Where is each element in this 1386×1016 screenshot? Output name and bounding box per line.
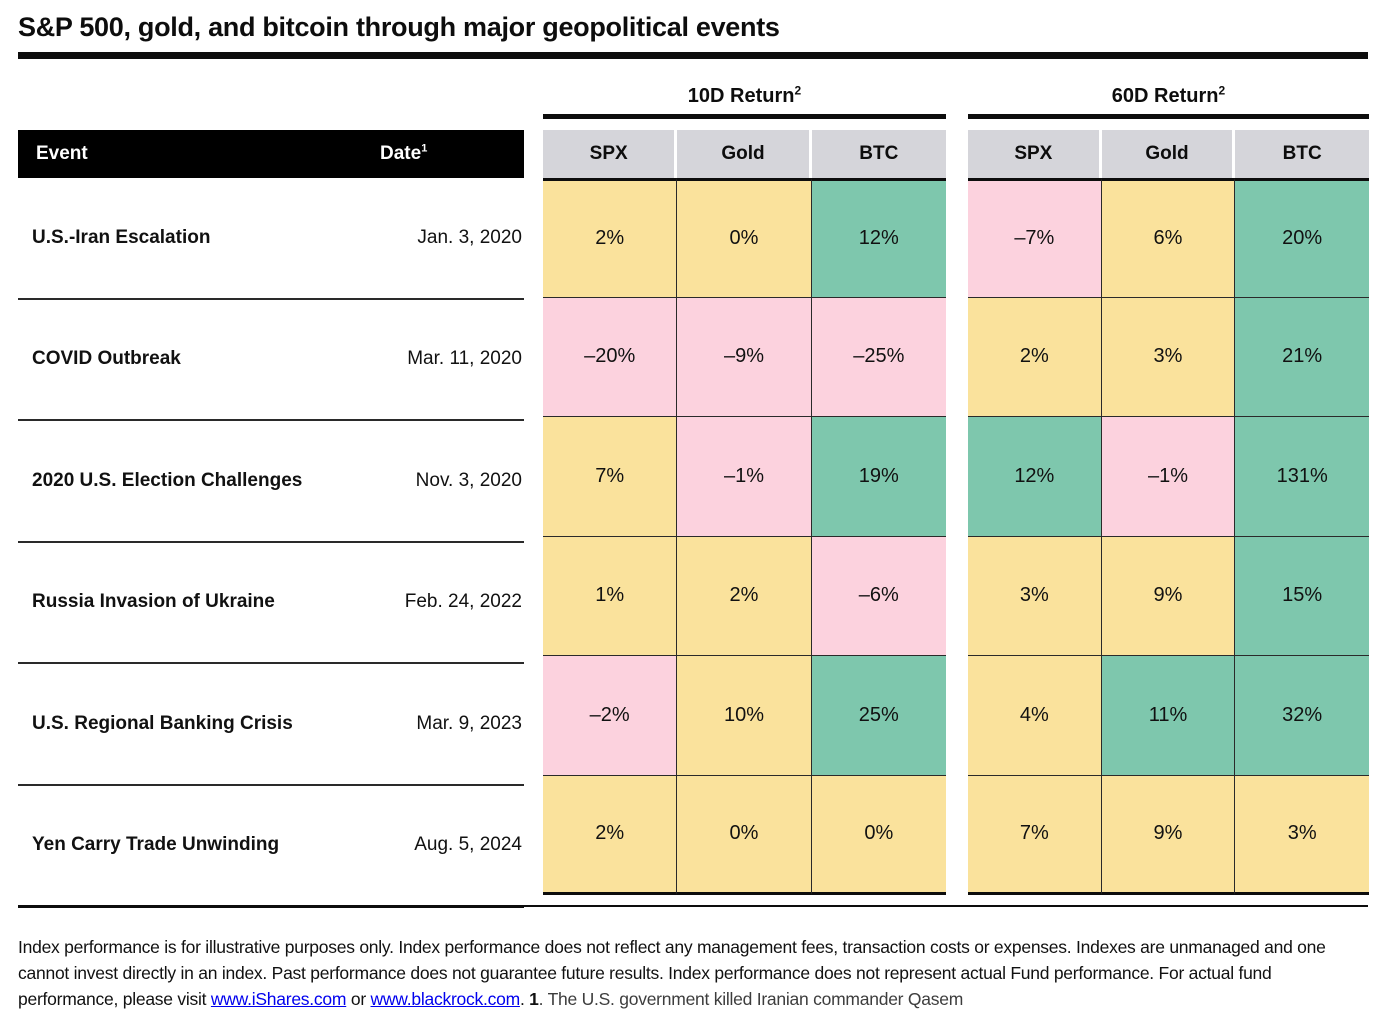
return-cell: –6% [812,537,946,657]
column-header-event: Event [36,143,88,165]
return-cell: 9% [1102,776,1236,896]
event-date: Feb. 24, 2022 [405,591,522,613]
return-cell: 4% [968,656,1102,776]
group-header-60d-label: 60D Return2 [1112,85,1225,107]
return-cell: –25% [812,298,946,418]
footnote-text-tail: . The U.S. government killed Iranian com… [539,989,963,1009]
return-cell: 2% [543,776,677,896]
return-cell: 9% [1102,537,1236,657]
return-cell: 0% [812,776,946,896]
page-title: S&P 500, gold, and bitcoin through major… [18,10,1368,44]
event-name: Yen Carry Trade Unwinding [32,834,279,856]
return-cell: 2% [677,537,811,657]
return-cell: 2% [968,298,1102,418]
event-name: COVID Outbreak [32,348,181,370]
return-cell: 12% [812,178,946,298]
return-cell: –1% [1102,417,1236,537]
title-divider [18,52,1368,59]
return-cell: –2% [543,656,677,776]
footnote-marker-1: 1 [529,989,538,1009]
return-cell: 1% [543,537,677,657]
event-date: Aug. 5, 2024 [414,834,522,856]
table-row: Russia Invasion of UkraineFeb. 24, 2022 [18,543,524,665]
returns-grid-10d: SPXGoldBTC2%0%12%–20%–9%–25%7%–1%19%1%2%… [543,130,946,895]
event-name: 2020 U.S. Election Challenges [32,470,302,492]
return-cell: 7% [968,776,1102,896]
event-name: U.S. Regional Banking Crisis [32,713,293,735]
column-header-spx: SPX [543,130,677,178]
return-cell: –9% [677,298,811,418]
return-cell: 10% [677,656,811,776]
event-date: Jan. 3, 2020 [417,227,522,249]
return-cell: 2% [543,178,677,298]
return-cell: 7% [543,417,677,537]
footnote-text-mid: or [346,989,370,1009]
table-row: U.S. Regional Banking CrisisMar. 9, 2023 [18,664,524,786]
event-name: Russia Invasion of Ukraine [32,591,275,613]
return-cell: 12% [968,417,1102,537]
event-date: Nov. 3, 2020 [416,470,522,492]
column-header-gold: Gold [677,130,811,178]
return-cell: 0% [677,776,811,896]
event-list: U.S.-Iran EscalationJan. 3, 2020COVID Ou… [18,178,524,908]
return-cell: 21% [1235,298,1369,418]
page-title-wrap: S&P 500, gold, and bitcoin through major… [18,10,1368,44]
return-cell: 32% [1235,656,1369,776]
table-row: U.S.-Iran EscalationJan. 3, 2020 [18,178,524,300]
group-header-60d: 60D Return2 [968,84,1369,108]
column-header-btc: BTC [812,130,946,178]
column-header-spx: SPX [968,130,1102,178]
return-cell: 131% [1235,417,1369,537]
return-cell: 3% [968,537,1102,657]
event-name: U.S.-Iran Escalation [32,227,210,249]
return-cell: 3% [1235,776,1369,896]
column-header-gold: Gold [1102,130,1236,178]
column-header-btc: BTC [1235,130,1369,178]
ishares-link[interactable]: www.iShares.com [211,989,346,1009]
group-header-10d: 10D Return2 [543,84,946,108]
blackrock-link[interactable]: www.blackrock.com [371,989,520,1009]
return-cell: 6% [1102,178,1236,298]
column-header-date: Date1 [380,143,427,165]
return-cell: 3% [1102,298,1236,418]
event-date: Mar. 9, 2023 [416,713,522,735]
return-cell: –7% [968,178,1102,298]
group-header-10d-label: 10D Return2 [688,85,801,107]
return-cell: 25% [812,656,946,776]
return-cell: 19% [812,417,946,537]
table-row: Yen Carry Trade UnwindingAug. 5, 2024 [18,786,524,909]
return-cell: –1% [677,417,811,537]
footnote-divider [18,905,1368,907]
table-row: 2020 U.S. Election ChallengesNov. 3, 202… [18,421,524,543]
table-row: COVID OutbreakMar. 11, 2020 [18,300,524,422]
footnote: Index performance is for illustrative pu… [18,934,1370,1012]
table-header-event-date: Event Date1 [18,130,524,178]
group-header-10d-divider [543,114,946,119]
return-cell: 20% [1235,178,1369,298]
return-cell: 11% [1102,656,1236,776]
event-date: Mar. 11, 2020 [407,348,522,370]
returns-grid-60d: SPXGoldBTC–7%6%20%2%3%21%12%–1%131%3%9%1… [968,130,1369,895]
return-cell: 0% [677,178,811,298]
group-header-60d-divider [968,114,1369,119]
return-cell: –20% [543,298,677,418]
return-cell: 15% [1235,537,1369,657]
footnote-text-part2: . [520,989,529,1009]
